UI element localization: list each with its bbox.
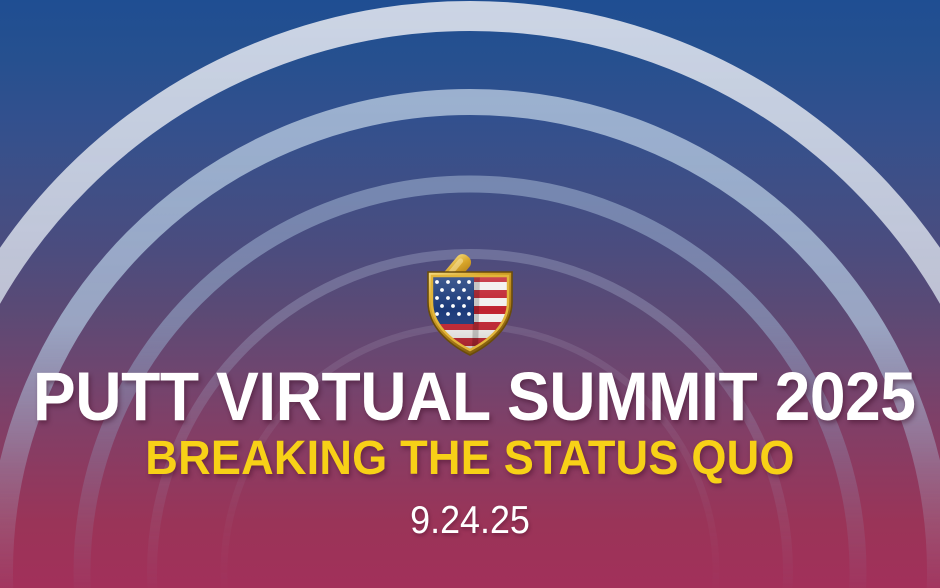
event-date: 9.24.25 <box>38 500 903 542</box>
event-title: PUTT VIRTUAL SUMMIT 2025 <box>33 362 907 432</box>
event-subtitle: BREAKING THE STATUS QUO <box>28 434 912 484</box>
shield-flag-logo <box>418 250 522 358</box>
banner-text-block: PUTT VIRTUAL SUMMIT 2025 BREAKING THE ST… <box>0 362 940 542</box>
event-banner: PUTT VIRTUAL SUMMIT 2025 BREAKING THE ST… <box>0 0 940 588</box>
american-flag <box>428 274 512 354</box>
